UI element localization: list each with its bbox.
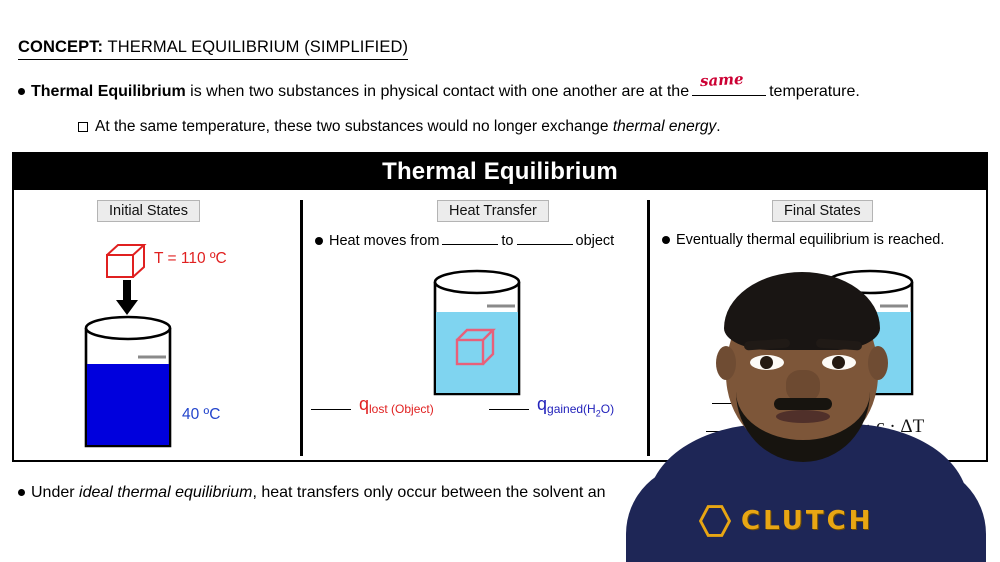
bullet-dot-icon <box>18 88 25 95</box>
heat-sink-blank[interactable] <box>517 232 573 245</box>
final-state-text: Eventually thermal equilibrium is reache… <box>676 232 944 248</box>
tag-final-states: Final States <box>772 200 873 222</box>
heat-source-blank[interactable] <box>442 232 498 245</box>
footer-italic: ideal thermal equilibrium <box>79 484 252 501</box>
concept-label: CONCEPT: <box>18 38 103 56</box>
tag-heat-transfer: Heat Transfer <box>437 200 549 222</box>
q-h2o-label: qH2O <box>838 391 871 408</box>
term-thermal-equilibrium: Thermal Equilibrium <box>31 83 186 100</box>
column-final-states: Final States Eventually thermal equilibr… <box>650 192 987 460</box>
answer-blank[interactable]: same <box>692 80 766 96</box>
shirt-brand-text: CLUTCH <box>741 506 873 536</box>
q-h2o-row: qH2O <box>712 388 871 412</box>
heat-text-c: object <box>576 233 615 249</box>
sub-bullet-text-b: . <box>716 118 720 135</box>
heat-direction-bullet: Heat moves fromtoobject <box>315 232 614 249</box>
slide-root: CONCEPT: THERMAL EQUILIBRIUM (SIMPLIFIED… <box>0 0 1000 562</box>
hot-cube-icon <box>106 244 144 274</box>
q-lost-blank[interactable] <box>311 398 351 410</box>
heat-text-a: Heat moves from <box>329 233 439 249</box>
column-heat-transfer: Heat Transfer Heat moves fromtoobject <box>303 192 647 460</box>
diagram-panel: Thermal Equilibrium Initial States T = 1… <box>12 152 988 462</box>
final-state-bullet: Eventually thermal equilibrium is reache… <box>662 232 944 248</box>
q-lost-label: qlost (Object) <box>359 397 434 414</box>
q-gained-label: qgained(H2O) <box>537 397 614 414</box>
formula-right: m · c · ΔT <box>846 416 925 437</box>
panel-title: Thermal Equilibrium <box>14 154 986 190</box>
main-bullet-text-a: is when two substances in physical conta… <box>190 83 689 100</box>
main-bullet-text-b: temperature. <box>769 83 860 100</box>
sub-bullet: At the same temperature, these two subst… <box>78 118 721 136</box>
q-gained-blank[interactable] <box>489 398 529 410</box>
presenter-shoulder-left <box>626 464 746 562</box>
main-bullet: Thermal Equilibrium is when two substanc… <box>18 80 860 101</box>
column-initial-states: Initial States T = 110 ºC <box>14 192 300 460</box>
beaker-initial <box>80 314 176 456</box>
bullet-dot-icon <box>662 236 670 244</box>
q-h2o-blank[interactable] <box>712 392 830 404</box>
formula-left: m <box>758 416 773 437</box>
handwritten-answer: same <box>700 70 744 90</box>
beaker-final <box>822 268 918 402</box>
concept-heading: CONCEPT: THERMAL EQUILIBRIUM (SIMPLIFIED… <box>18 38 408 60</box>
square-bullet-icon <box>78 122 88 132</box>
footer-bullet: Under ideal thermal equilibrium, heat tr… <box>18 484 606 502</box>
concept-title: THERMAL EQUILIBRIUM (SIMPLIFIED) <box>108 38 409 56</box>
footer-text-a: Under <box>31 484 75 501</box>
hexagon-icon <box>698 504 732 538</box>
cube-temperature-label: T = 110 ºC <box>154 250 227 268</box>
bullet-dot-icon <box>18 489 25 496</box>
bullet-dot-icon <box>315 237 323 245</box>
footer-text-b: , heat transfers only occur between the … <box>252 484 605 501</box>
beaker-heat-transfer <box>429 268 525 402</box>
sub-bullet-text-a: At the same temperature, these two subst… <box>95 118 609 135</box>
sub-bullet-italic: thermal energy <box>613 118 716 135</box>
q-gained-row: qgained(H2O) <box>489 394 614 418</box>
q-lost-row: qlost (Object) <box>311 394 434 416</box>
heat-text-b: to <box>501 233 513 249</box>
tag-initial-states: Initial States <box>97 200 200 222</box>
shirt-logo: CLUTCH <box>698 504 873 538</box>
water-temperature-label: 40 ºC <box>182 406 220 424</box>
presenter-shoulder-right <box>866 464 986 562</box>
formula-blank[interactable] <box>706 419 752 432</box>
formula-row: m m · c · ΔT <box>706 416 924 438</box>
